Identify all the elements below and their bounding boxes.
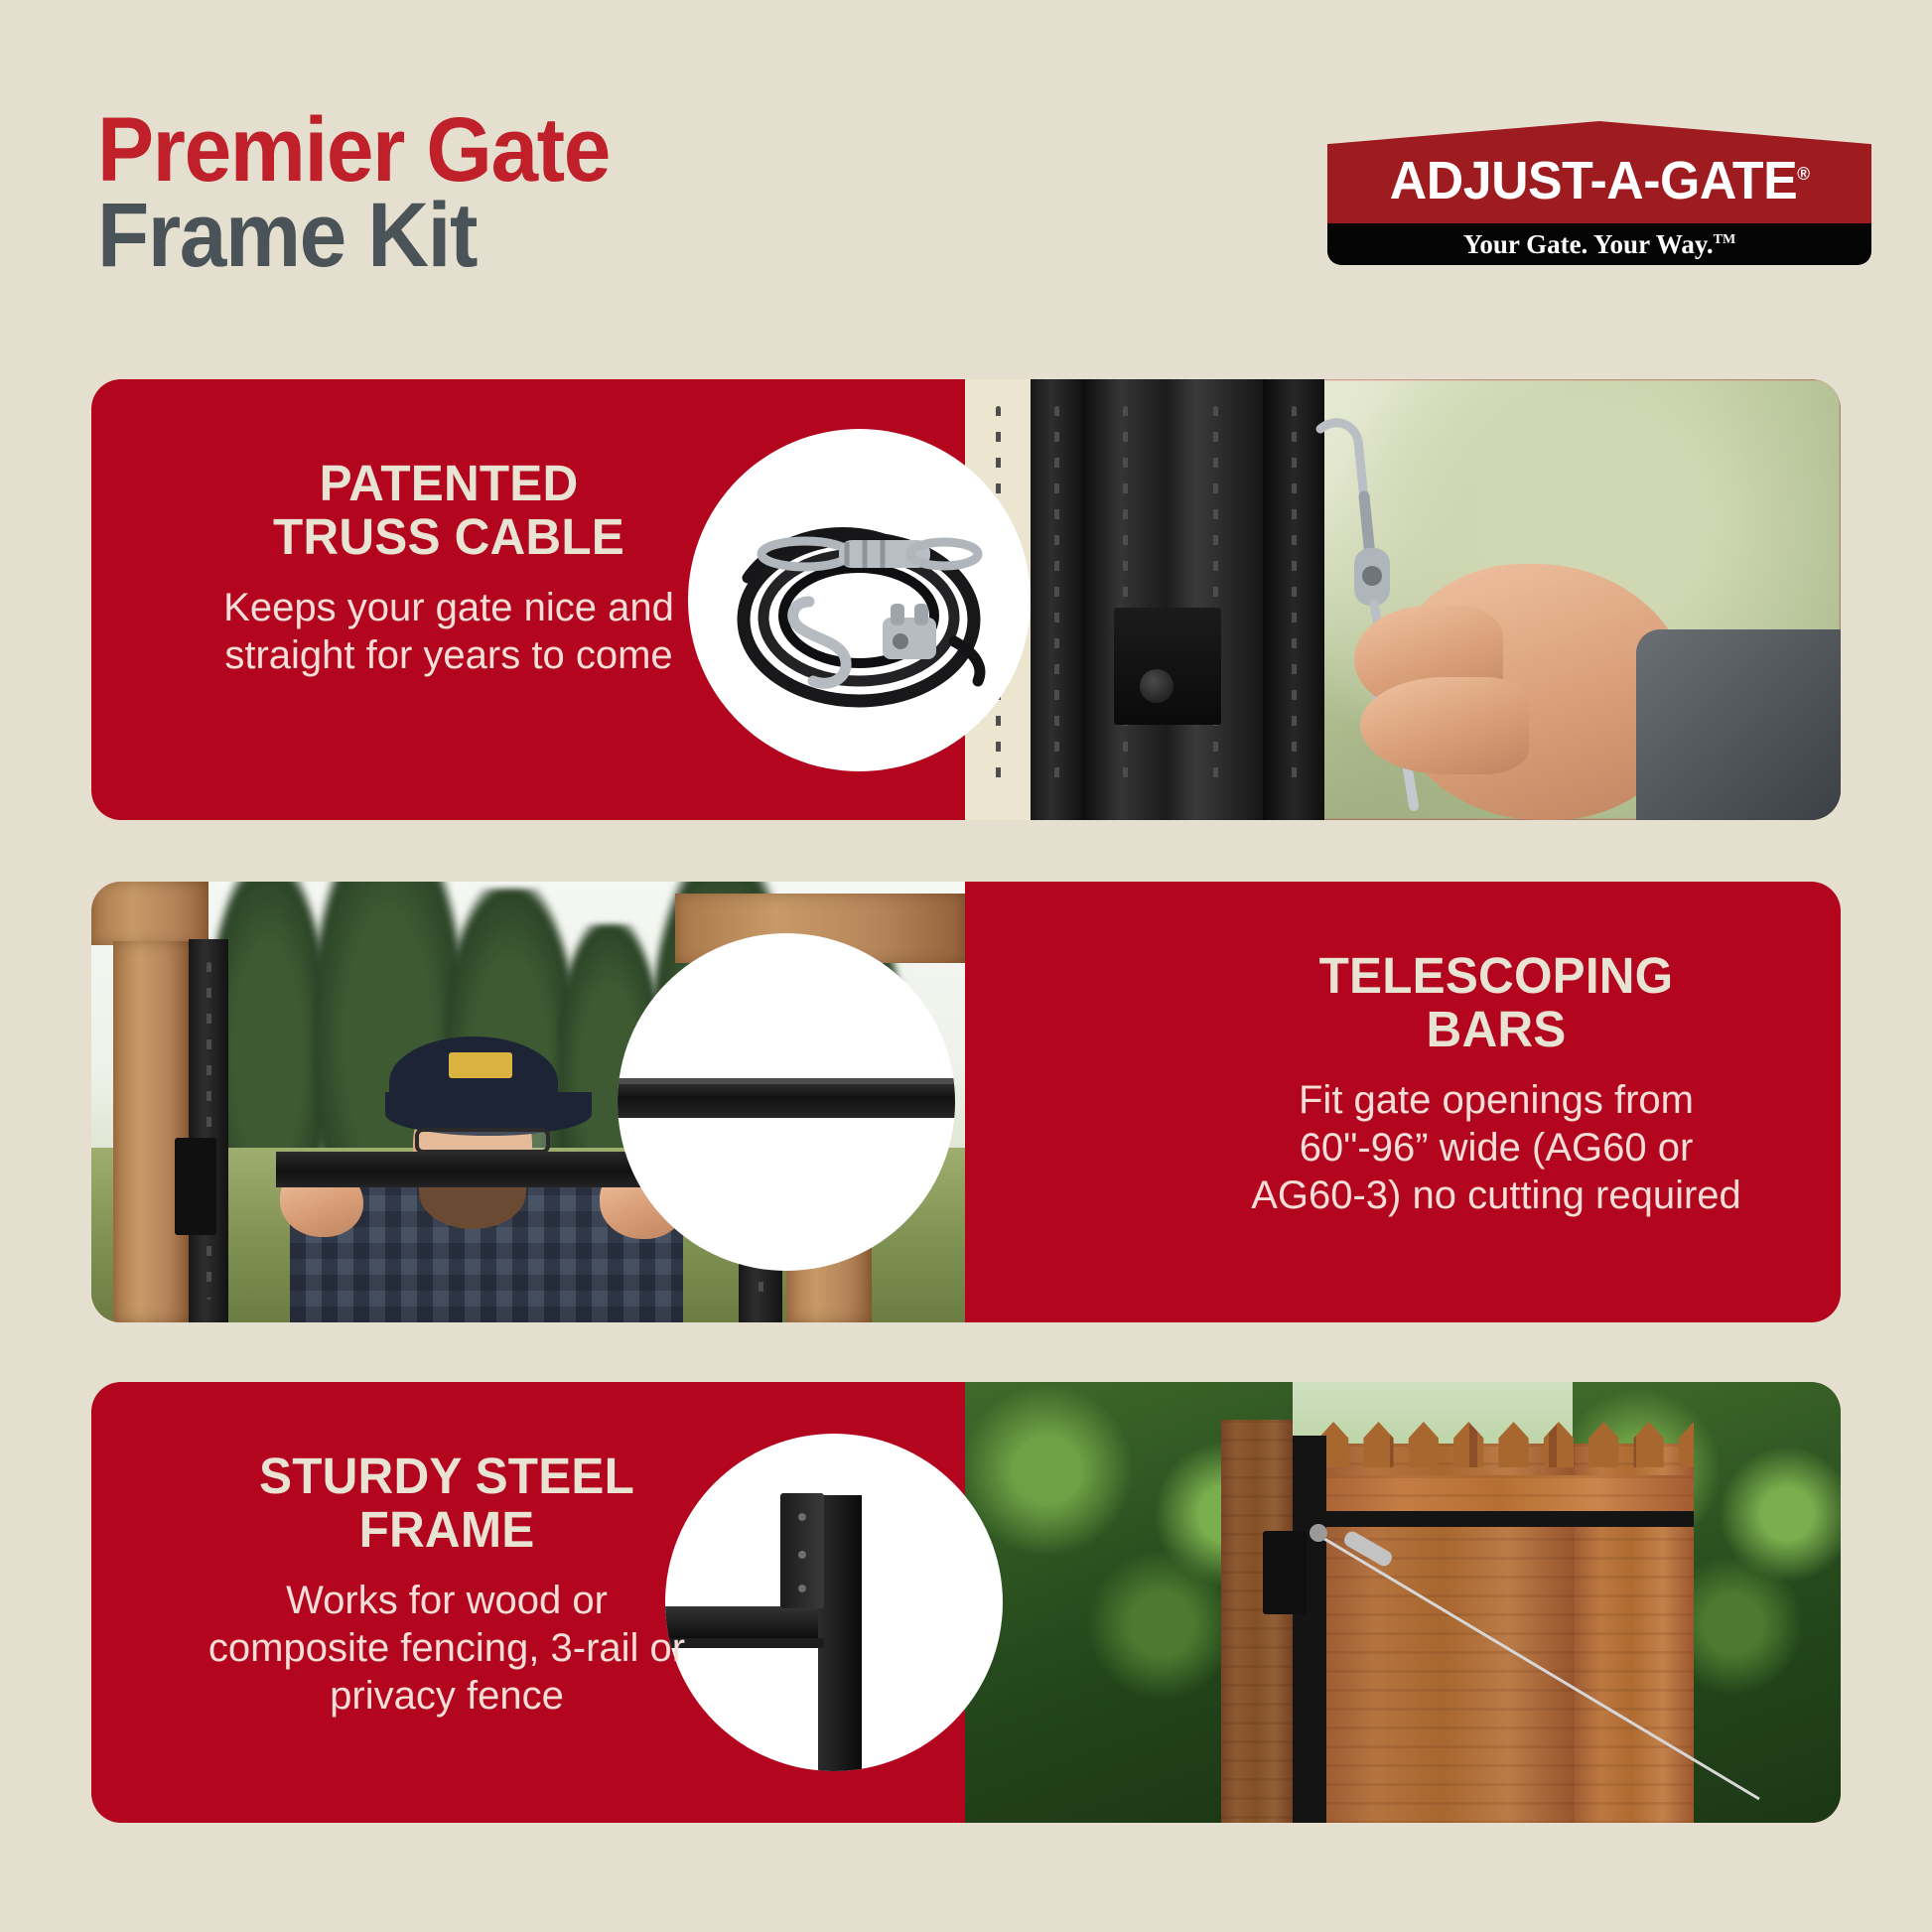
panel-3-body-line-3: privacy fence — [129, 1672, 764, 1720]
bracket-screw-3-icon — [798, 1585, 806, 1592]
feature-panel-truss-cable: PATENTED TRUSS CABLE Keeps your gate nic… — [91, 379, 1841, 820]
photo-hand-attaching-turnbuckle — [965, 379, 1841, 820]
page-title-line-1: Premier Gate — [97, 107, 610, 193]
bar-highlight — [618, 1078, 955, 1084]
page-title-line-2: Frame Kit — [97, 193, 610, 278]
panel-1-heading-line-1: PATENTED — [141, 457, 758, 510]
logo-tagline-label: Your Gate. Your Way. — [1463, 229, 1714, 259]
logo-banner: ADJUST-A-GATE® — [1327, 121, 1871, 225]
trademark-icon: TM — [1714, 232, 1736, 247]
panel-2-body-line-3: AG60-3) no cutting required — [1173, 1172, 1819, 1219]
photo-wood-privacy-gate — [965, 1382, 1841, 1823]
bracket-screw-2-icon — [798, 1551, 806, 1559]
inset-circle-telescoping-bar — [618, 933, 955, 1271]
bracket-screw-1-icon — [798, 1513, 806, 1521]
logo-tagline-bar: Your Gate. Your Way.TM — [1327, 223, 1871, 265]
panel-1-body: Keeps your gate nice and straight for ye… — [131, 584, 766, 679]
gate-frame-left — [189, 939, 228, 1322]
page-header: Premier Gate Frame Kit ADJUST-A-GATE® Yo… — [0, 0, 1932, 298]
brand-logo: ADJUST-A-GATE® Your Gate. Your Way.TM — [1327, 121, 1871, 265]
panel-2-heading-line-1: TELESCOPING — [1183, 949, 1810, 1003]
panel-3-heading-line-1: STURDY STEEL — [139, 1449, 756, 1503]
panel-2-body-line-1: Fit gate openings from — [1173, 1076, 1819, 1124]
panel-1-text-block: PATENTED TRUSS CABLE Keeps your gate nic… — [131, 457, 766, 679]
logo-tagline: Your Gate. Your Way.TM — [1463, 229, 1735, 260]
panel-3-text-block: STURDY STEEL FRAME Works for wood or com… — [129, 1449, 764, 1720]
panel-2-text-block: TELESCOPING BARS Fit gate openings from … — [1173, 949, 1819, 1219]
wood-header-left — [91, 882, 208, 945]
logo-brand-text: ADJUST-A-GATE® — [1390, 150, 1810, 211]
sleeve-cuff — [1636, 629, 1841, 820]
cap-logo-patch — [449, 1052, 512, 1078]
panel-1-body-line-2: straight for years to come — [131, 631, 766, 679]
panel-2-heading: TELESCOPING BARS — [1183, 949, 1810, 1056]
hand-finger-2 — [1360, 677, 1529, 774]
panel-2-heading-line-2: BARS — [1183, 1003, 1810, 1056]
registered-trademark-icon: ® — [1797, 164, 1809, 184]
feature-panel-telescoping-bars: TELESCOPING BARS Fit gate openings from … — [91, 882, 1841, 1322]
bracket-vertical-bar — [818, 1495, 862, 1771]
panel-1-heading-line-2: TRUSS CABLE — [141, 510, 758, 564]
panel-3-heading: STURDY STEEL FRAME — [139, 1449, 756, 1557]
panel-1-heading: PATENTED TRUSS CABLE — [141, 457, 758, 564]
panel-3-heading-line-2: FRAME — [139, 1503, 756, 1557]
panel-2-body: Fit gate openings from 60"-96” wide (AG6… — [1173, 1076, 1819, 1219]
panel-2-body-line-2: 60"-96” wide (AG60 or — [1173, 1124, 1819, 1172]
wood-post-left — [113, 941, 189, 1322]
logo-brand-label: ADJUST-A-GATE — [1390, 151, 1797, 210]
page-title: Premier Gate Frame Kit — [97, 107, 648, 279]
feature-panel-sturdy-steel-frame: STURDY STEEL FRAME Works for wood or com… — [91, 1382, 1841, 1823]
panel-3-body-line-2: composite fencing, 3-rail or — [129, 1624, 764, 1672]
panel-1-body-line-1: Keeps your gate nice and — [131, 584, 766, 631]
truss-cable-diagonal — [965, 1382, 1841, 1823]
panel-3-body-line-1: Works for wood or — [129, 1577, 764, 1624]
telescoping-bar-closeup-icon — [618, 1078, 955, 1118]
panel-3-body: Works for wood or composite fencing, 3-r… — [129, 1577, 764, 1720]
hinge-bracket-left — [175, 1138, 216, 1235]
man-glasses — [415, 1128, 550, 1154]
